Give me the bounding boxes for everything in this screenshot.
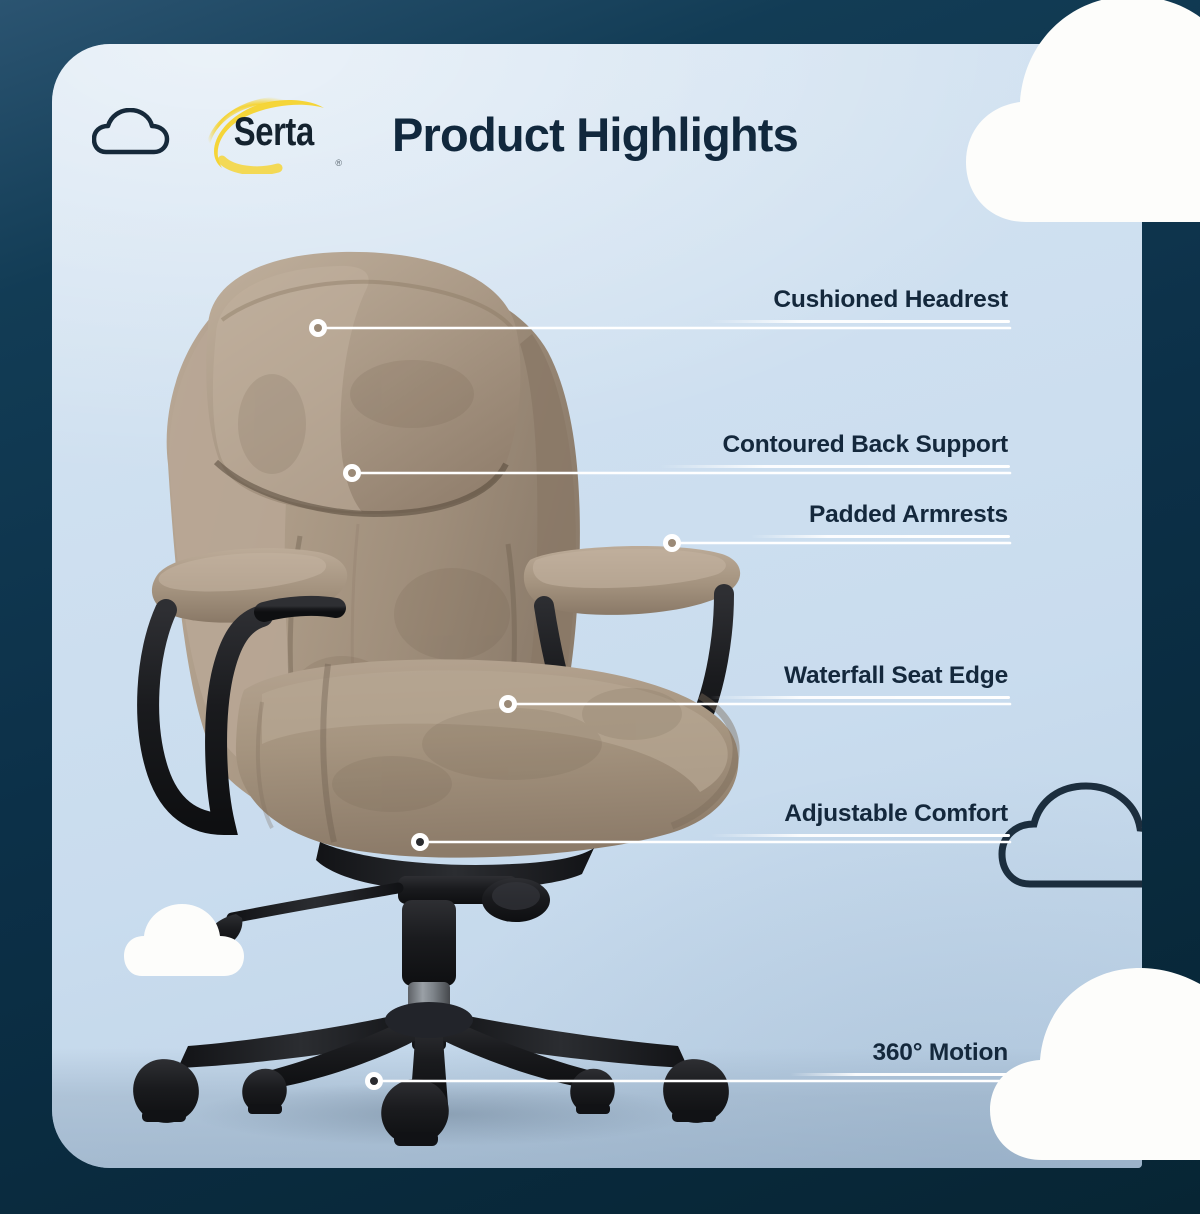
- callout-underline: [660, 465, 1010, 468]
- callout-underline: [710, 696, 1010, 699]
- callout-adjustable-comfort: Adjustable Comfort: [710, 800, 1010, 837]
- callout-label: Cushioned Headrest: [710, 286, 1010, 314]
- callout-label: 360° Motion: [790, 1039, 1010, 1067]
- cloud-solid-icon-bottom-left: [124, 892, 252, 978]
- page-title: Product Highlights: [392, 107, 798, 162]
- product-image-office-chair: [112, 224, 752, 1154]
- callout-cushioned-headrest: Cushioned Headrest: [710, 286, 1010, 323]
- callout-label: Adjustable Comfort: [710, 800, 1010, 828]
- header: Serta ® Product Highlights: [92, 92, 798, 176]
- cloud-solid-icon-top-right: [962, 0, 1200, 224]
- callout-underline: [710, 320, 1010, 323]
- cloud-outline-icon-header: [92, 108, 170, 160]
- serta-registered-mark: ®: [335, 158, 342, 168]
- callout-underline: [790, 1073, 1010, 1076]
- callout-underline: [750, 535, 1010, 538]
- callout-padded-armrests: Padded Armrests: [750, 501, 1010, 538]
- callout-contoured-back-support: Contoured Back Support: [660, 431, 1010, 468]
- serta-logo-text: Serta: [234, 110, 314, 155]
- cloud-outline-icon-right: [998, 780, 1142, 900]
- callout-underline: [710, 834, 1010, 837]
- callout-360-motion: 360° Motion: [790, 1039, 1010, 1076]
- serta-logo: Serta ®: [196, 92, 348, 176]
- callout-waterfall-seat-edge: Waterfall Seat Edge: [710, 662, 1010, 699]
- callout-label: Waterfall Seat Edge: [710, 662, 1010, 690]
- infographic-canvas: Serta ® Product Highlights Cushioned Hea…: [0, 0, 1200, 1214]
- cloud-solid-icon-bottom-right: [986, 966, 1200, 1162]
- callout-label: Padded Armrests: [750, 501, 1010, 529]
- callout-label: Contoured Back Support: [660, 431, 1010, 459]
